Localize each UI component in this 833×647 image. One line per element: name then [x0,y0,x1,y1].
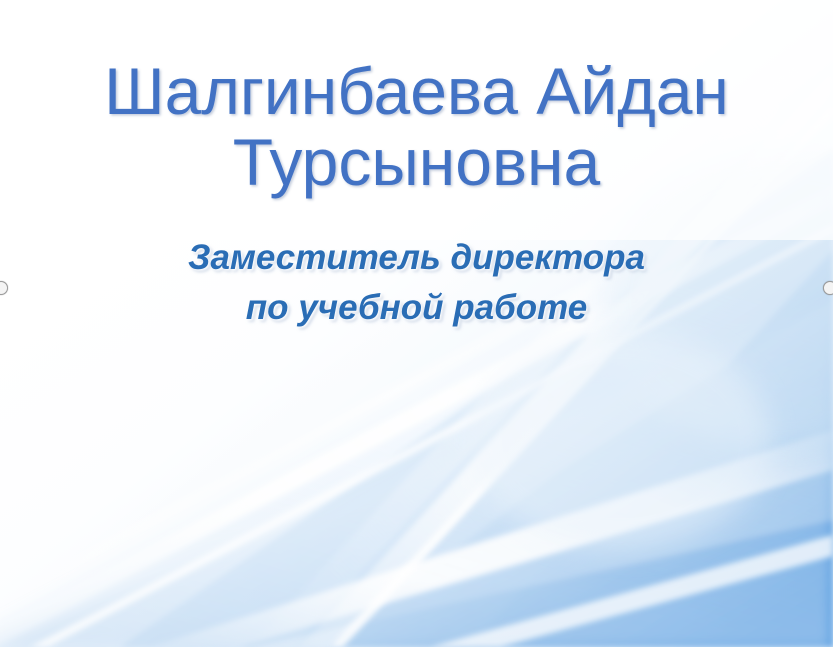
slide-title[interactable]: Шалгинбаева Айдан Турсыновна [0,0,833,197]
slide-text-block: Шалгинбаева Айдан Турсыновна Заместитель… [0,0,833,333]
right-resize-handle[interactable] [823,281,833,295]
slide-subtitle[interactable]: Заместитель директора по учебной работе [0,197,833,332]
presentation-slide: Шалгинбаева Айдан Турсыновна Заместитель… [0,0,833,647]
